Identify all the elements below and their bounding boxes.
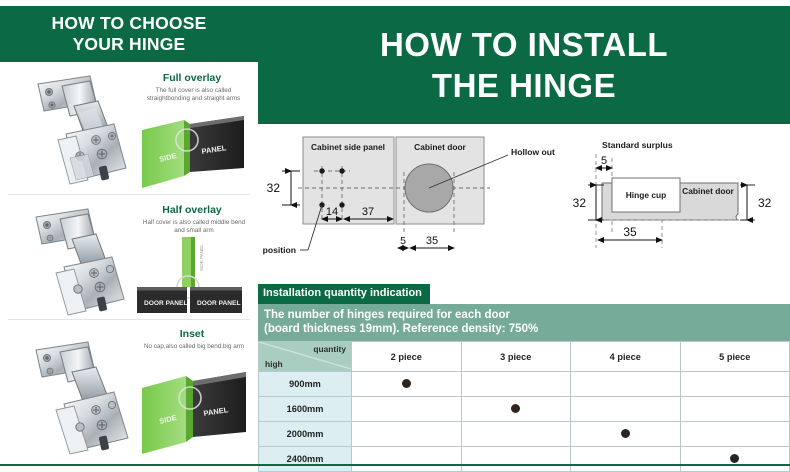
column-header-0: 2 piece	[352, 342, 462, 372]
cell-0-0	[352, 372, 462, 397]
column-header-3: 5 piece	[680, 342, 790, 372]
inset-panel-illustration: SIDE PANEL	[140, 366, 252, 458]
section-subtitle-inset: No cap,also called big bend,big arm	[133, 343, 255, 351]
row-label-2: 2000mm	[259, 422, 352, 447]
label-cabinet-door: Cabinet door	[414, 142, 466, 152]
dim-14: 14	[326, 206, 338, 218]
half-overlay-panel-illustration: SIDE PANEL DOOR PANEL DOOR PANEL	[133, 237, 255, 315]
table-row: 1600mm	[259, 397, 790, 422]
cell-3-2	[571, 447, 681, 472]
mark-dot	[402, 379, 411, 388]
left-header-line-2: YOUR HINGE	[73, 34, 186, 55]
section-half-overlay: Half overlay Half cover is also called m…	[0, 195, 258, 320]
cell-1-1	[461, 397, 571, 422]
table-subtitle: The number of hinges required for each d…	[258, 304, 790, 341]
row-label-0: 900mm	[259, 372, 352, 397]
panel-label-side-panel: SIDE PANEL	[199, 244, 204, 271]
row-label-1: 1600mm	[259, 397, 352, 422]
corner-label-high: high	[265, 359, 283, 369]
inset-hinge-photo	[16, 332, 134, 458]
label-cabinet-side-panel: Cabinet side panel	[311, 142, 385, 152]
cell-2-1	[461, 422, 571, 447]
mark-dot	[730, 454, 739, 463]
cell-1-2	[571, 397, 681, 422]
cell-0-3	[680, 372, 790, 397]
right-header-line-2: THE HINGE	[432, 65, 616, 106]
cell-0-1	[461, 372, 571, 397]
left-header-banner: HOW TO CHOOSE YOUR HINGE	[0, 6, 258, 62]
label-hinge-cup: Hinge cup	[626, 190, 666, 200]
full-overlay-hinge-photo	[18, 70, 134, 190]
full-overlay-panel-illustration: SIDE PANEL	[140, 112, 250, 192]
section-title-inset: Inset	[131, 328, 253, 340]
table-subtitle-line-2: (board thickness 19mm). Reference densit…	[264, 322, 784, 336]
installation-quantity-table: Installation quantity indication The num…	[258, 283, 790, 472]
cell-2-3	[680, 422, 790, 447]
dim-5-right: 5	[601, 155, 607, 167]
dim-37: 37	[362, 206, 374, 218]
cell-3-3	[680, 447, 790, 472]
table-row: 2000mm	[259, 422, 790, 447]
technical-diagrams: Cabinet side panel Cabinet door	[258, 128, 790, 280]
corner-label-quantity: quantity	[313, 344, 346, 354]
right-header-line-1: HOW TO INSTALL	[380, 24, 668, 65]
mark-dot	[621, 429, 630, 438]
half-overlay-hinge-photo	[18, 201, 134, 319]
column-header-2: 4 piece	[571, 342, 681, 372]
table-row: 900mm	[259, 372, 790, 397]
cell-1-0	[352, 397, 462, 422]
table-badge: Installation quantity indication	[258, 284, 430, 304]
section-subtitle-half-overlay: Half cover is also called middle bend an…	[138, 219, 250, 235]
dim-35-right: 35	[623, 225, 637, 239]
left-header-line-1: HOW TO CHOOSE	[52, 13, 207, 34]
dim-5: 5	[400, 235, 406, 247]
dim-32-right: 32	[758, 196, 772, 210]
label-cabinet-door-right: Cabinet door	[682, 186, 734, 196]
section-full-overlay: Full overlay The full cover is also call…	[0, 62, 258, 195]
dim-32-left: 32	[573, 196, 587, 210]
table-row: 2400mm	[259, 447, 790, 472]
panel-label-door-panel-right: DOOR PANEL	[197, 300, 240, 307]
mark-dot	[511, 404, 520, 413]
cell-0-2	[571, 372, 681, 397]
table-corner-cell: quantity high	[259, 342, 352, 372]
section-title-half-overlay: Half overlay	[131, 204, 253, 216]
dim-32-vertical: 32	[267, 181, 281, 195]
section-title-full-overlay: Full overlay	[131, 72, 253, 84]
callout-position: position	[263, 245, 296, 255]
cell-3-0	[352, 447, 462, 472]
section-subtitle-full-overlay: The full cover is also called straightbo…	[136, 87, 251, 103]
section-inset: Inset No cap,also called big bend,big ar…	[0, 320, 258, 465]
label-standard-surplus: Standard surplus	[602, 140, 673, 150]
quantity-table: quantity high 2 piece 3 piece 4 piece 5 …	[258, 341, 790, 472]
cell-1-3	[680, 397, 790, 422]
cell-2-0	[352, 422, 462, 447]
bottom-accent-rule	[0, 464, 790, 466]
column-header-1: 3 piece	[461, 342, 571, 372]
infographic-page: HOW TO CHOOSE YOUR HINGE Full overlay Th…	[0, 0, 790, 471]
row-label-3: 2400mm	[259, 447, 352, 472]
right-column: HOW TO INSTALL THE HINGE	[258, 0, 790, 471]
table-header-row: quantity high 2 piece 3 piece 4 piece 5 …	[259, 342, 790, 372]
table-subtitle-line-1: The number of hinges required for each d…	[264, 308, 784, 322]
dim-35: 35	[426, 235, 438, 247]
right-header-banner: HOW TO INSTALL THE HINGE	[258, 6, 790, 124]
left-column: HOW TO CHOOSE YOUR HINGE Full overlay Th…	[0, 0, 260, 471]
cell-3-1	[461, 447, 571, 472]
panel-label-door-panel-left: DOOR PANEL	[144, 300, 187, 307]
cell-2-2	[571, 422, 681, 447]
callout-hollow-out: Hollow out	[511, 147, 555, 157]
